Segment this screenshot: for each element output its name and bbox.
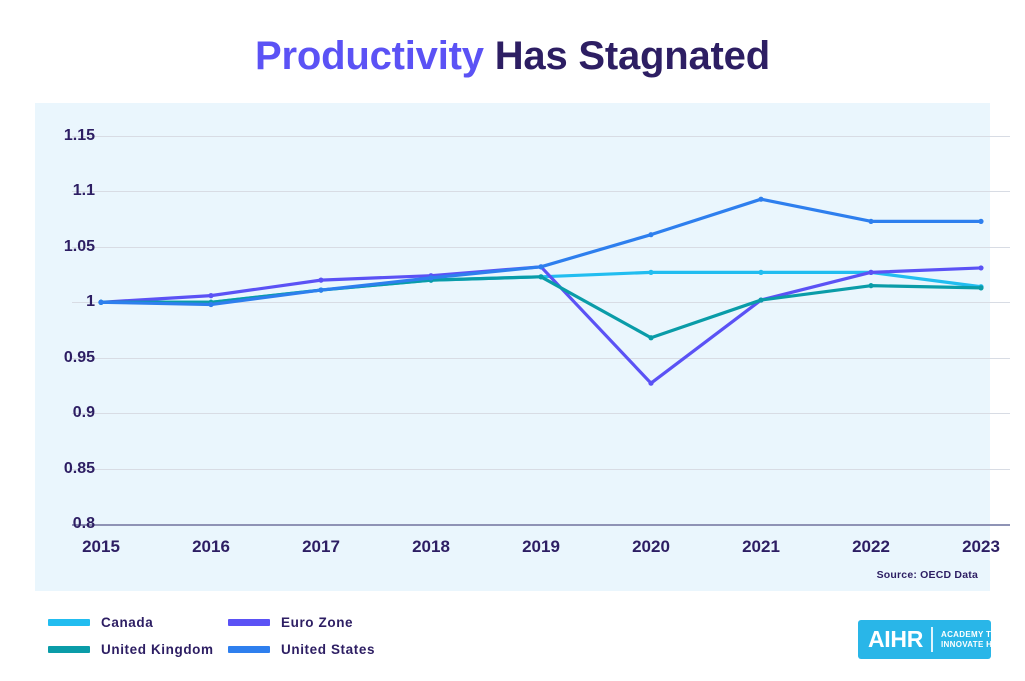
legend-item-euro-zone[interactable]: Euro Zone (228, 612, 353, 632)
legend-label: Euro Zone (281, 615, 353, 630)
aihr-logo-tagline: ACADEMY TO INNOVATE HR (941, 630, 998, 650)
legend-item-united-states[interactable]: United States (228, 639, 375, 659)
x-tick-label: 2018 (412, 537, 450, 557)
x-axis-labels: 201520162017201820192020202120222023 (35, 103, 990, 591)
x-tick-label: 2021 (742, 537, 780, 557)
legend-swatch-icon (48, 646, 90, 653)
legend-item-united-kingdom[interactable]: United Kingdom (48, 639, 214, 659)
chart-page: Productivity Has Stagnated Source: OECD … (0, 0, 1025, 681)
page-title-rest: Has Stagnated (484, 34, 770, 78)
x-tick-label: 2015 (82, 537, 120, 557)
aihr-tagline-line-2: INNOVATE HR (941, 640, 998, 650)
legend-label: United Kingdom (101, 642, 214, 657)
legend-item-canada[interactable]: Canada (48, 612, 153, 632)
x-tick-label: 2016 (192, 537, 230, 557)
legend-label: Canada (101, 615, 153, 630)
legend-swatch-icon (228, 619, 270, 626)
x-tick-label: 2020 (632, 537, 670, 557)
x-tick-label: 2023 (962, 537, 1000, 557)
page-title: Productivity Has Stagnated (0, 34, 1025, 79)
page-title-accent: Productivity (255, 34, 484, 78)
legend-swatch-icon (228, 646, 270, 653)
aihr-logo[interactable]: AIHR ACADEMY TO INNOVATE HR (858, 620, 991, 659)
x-tick-label: 2017 (302, 537, 340, 557)
x-tick-label: 2019 (522, 537, 560, 557)
aihr-logo-mark: AIHR (868, 628, 923, 651)
legend-swatch-icon (48, 619, 90, 626)
aihr-tagline-line-1: ACADEMY TO (941, 630, 998, 640)
chart-legend: CanadaEuro ZoneUnited KingdomUnited Stat… (48, 612, 608, 668)
logo-divider-icon (931, 627, 933, 652)
legend-label: United States (281, 642, 375, 657)
x-tick-label: 2022 (852, 537, 890, 557)
